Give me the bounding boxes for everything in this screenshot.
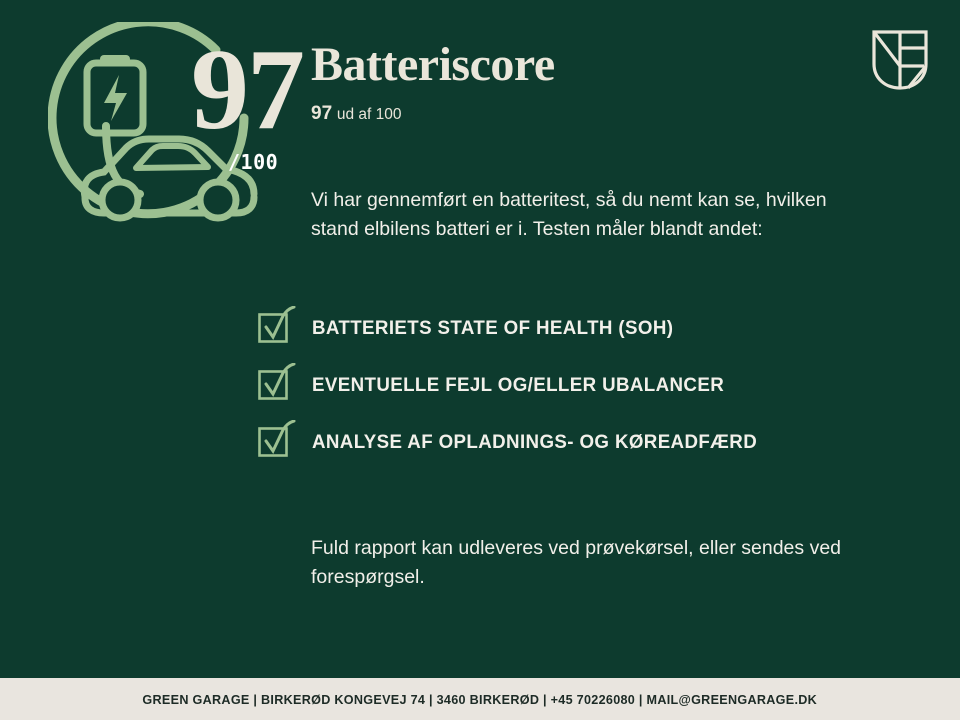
- subtitle-rest: ud af 100: [337, 106, 402, 123]
- outro-paragraph: Fuld rapport kan udleveres ved prøvekørs…: [311, 534, 841, 591]
- green-garage-shield-logo-icon: [870, 28, 930, 92]
- lightning-bolt-icon: [104, 75, 127, 121]
- checklist-item-label: ANALYSE AF OPLADNINGS- OG KØREADFÆRD: [312, 431, 757, 454]
- checklist-item-label: BATTERIETS STATE OF HEALTH (SOH): [312, 317, 673, 340]
- list-item: BATTERIETS STATE OF HEALTH (SOH): [259, 310, 879, 347]
- score-denominator: /100: [228, 150, 278, 174]
- checklist-item-label: EVENTUELLE FEJL OG/ELLER UBALANCER: [312, 374, 724, 397]
- footer-contact-line: GREEN GARAGE | BIRKERØD KONGEVEJ 74 | 34…: [143, 692, 818, 707]
- car-rear-wheel-icon: [200, 182, 236, 218]
- subtitle-score: 97: [311, 103, 332, 124]
- checkbox-checked-icon: [259, 312, 289, 346]
- list-item: ANALYSE AF OPLADNINGS- OG KØREADFÆRD: [259, 424, 879, 461]
- intro-paragraph: Vi har gennemført en batteritest, så du …: [311, 186, 841, 243]
- feature-checklist: BATTERIETS STATE OF HEALTH (SOH) EVENTUE…: [259, 310, 879, 461]
- poster-canvas: 97 /100 Batteriscore 97 ud af 100 Vi har…: [0, 0, 960, 720]
- page-title: Batteriscore: [311, 40, 555, 90]
- batteriscore-badge: 97 /100: [48, 22, 280, 242]
- brand-logo: [870, 28, 930, 92]
- checkbox-checked-icon: [259, 369, 289, 403]
- footer-bar: GREEN GARAGE | BIRKERØD KONGEVEJ 74 | 34…: [0, 678, 960, 720]
- checkbox-checked-icon: [259, 426, 289, 460]
- list-item: EVENTUELLE FEJL OG/ELLER UBALANCER: [259, 367, 879, 404]
- car-front-wheel-icon: [102, 182, 138, 218]
- score-number: 97: [191, 32, 303, 148]
- page-subtitle: 97 ud af 100: [311, 103, 402, 125]
